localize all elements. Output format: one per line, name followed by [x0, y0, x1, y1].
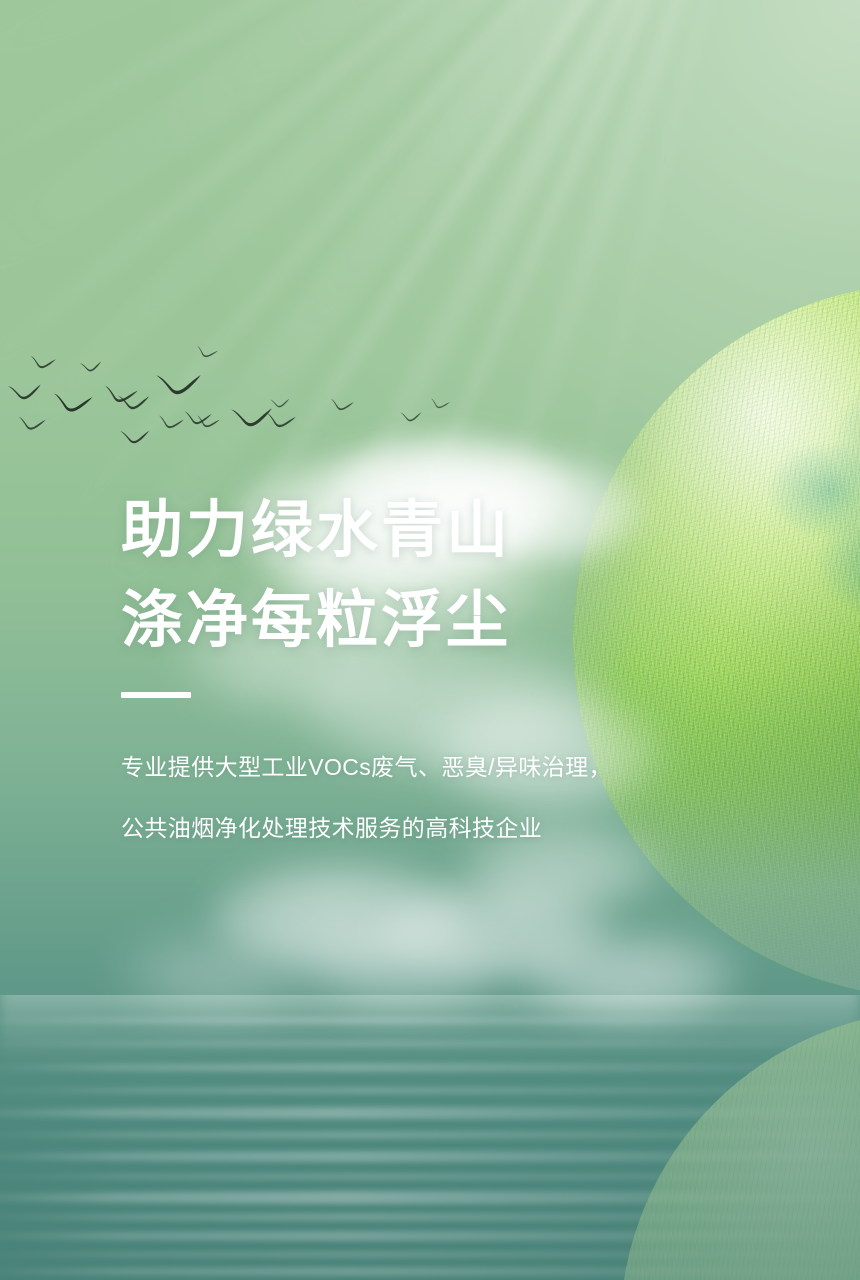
divider-rule: [121, 692, 191, 698]
water-ripple: [0, 1151, 860, 1162]
subtitle-line-2: 公共油烟净化处理技术服务的高科技企业: [121, 809, 761, 847]
water-ripple: [0, 1107, 860, 1119]
water-ripple: [0, 1251, 860, 1258]
water-ripple: [0, 1017, 860, 1024]
water-ripple: [0, 1191, 860, 1204]
water-ripple: [0, 1131, 860, 1139]
headline-line-2: 涤净每粒浮尘: [121, 576, 761, 666]
water-ripple: [0, 1063, 860, 1072]
water-ripple: [0, 1087, 860, 1094]
headline-line-1: 助力绿水青山: [121, 486, 761, 576]
water-ripple: [0, 1267, 860, 1276]
water-ripple: [0, 1231, 860, 1241]
water-ripple: [0, 1041, 860, 1047]
water-ripple: [0, 1173, 860, 1180]
banner-content: 助力绿水青山 涤净每粒浮尘 专业提供大型工业VOCs废气、恶臭/异味治理， 公共…: [121, 486, 761, 870]
promo-banner: 助力绿水青山 涤净每粒浮尘 专业提供大型工业VOCs废气、恶臭/异味治理， 公共…: [0, 0, 860, 1280]
water-surface: [0, 995, 860, 1280]
subtitle-line-1: 专业提供大型工业VOCs废气、恶臭/异味治理，: [121, 748, 761, 786]
water-haze: [0, 995, 860, 1065]
water-ripple: [0, 1213, 860, 1221]
